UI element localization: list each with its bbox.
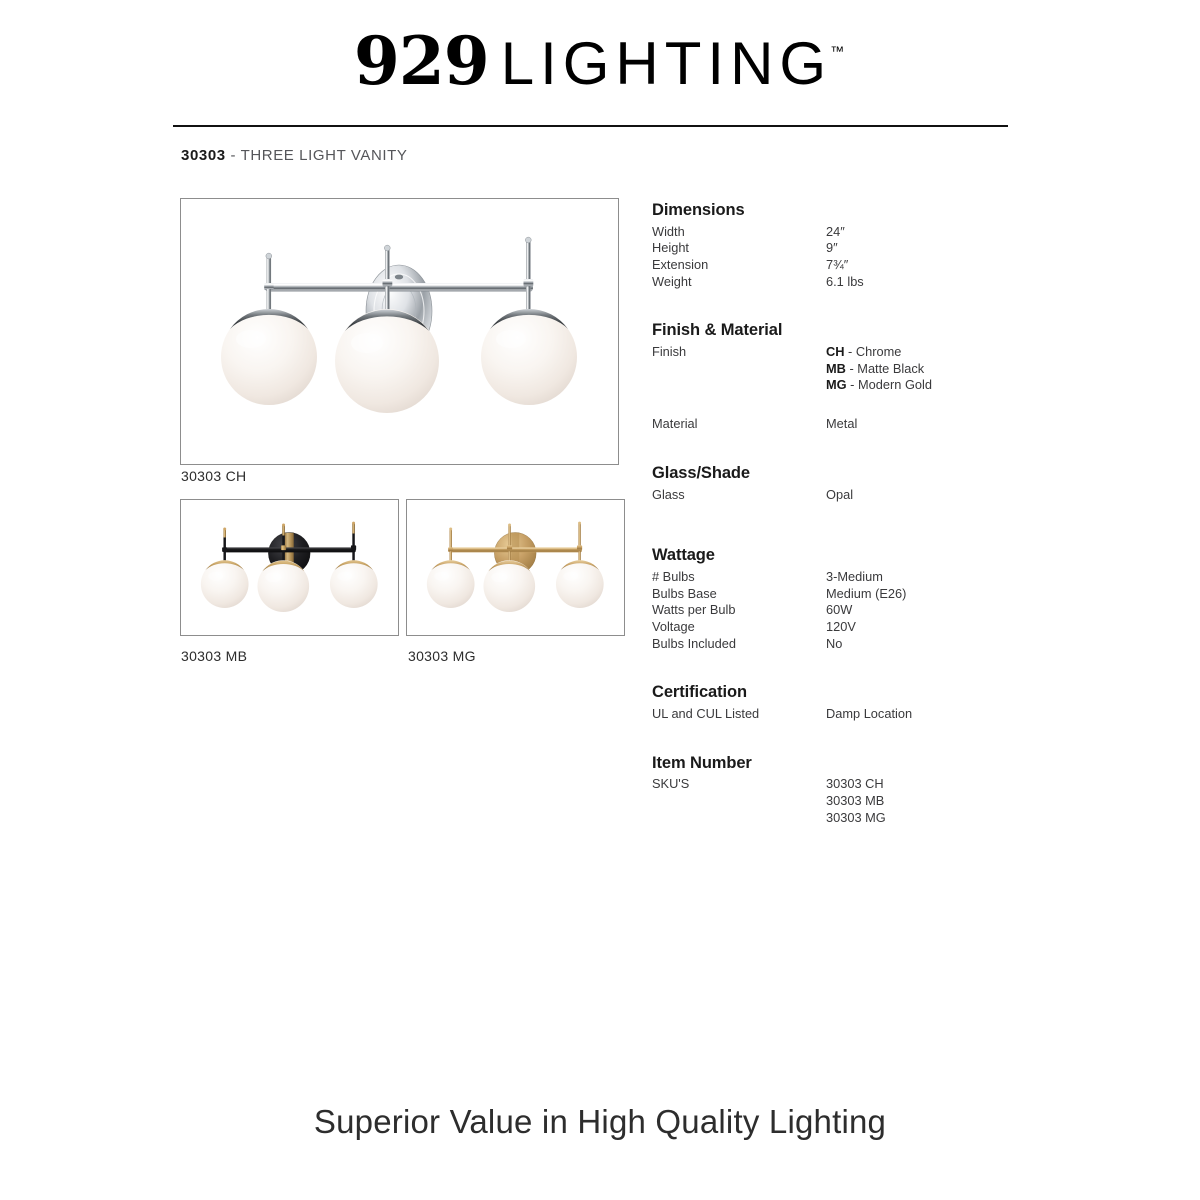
spec-label-skus: SKU'S: [652, 776, 826, 793]
finish-name-mg: - Modern Gold: [847, 377, 932, 392]
spec-label-width: Width: [652, 224, 826, 241]
page-title: 30303 - THREE LIGHT VANITY: [181, 147, 408, 164]
spacer: [652, 652, 1052, 682]
spec-value-finish-mg: MG - Modern Gold: [826, 377, 932, 394]
spec-label-glass: Glass: [652, 487, 826, 504]
fixture-illustration-modern-gold: [407, 500, 624, 635]
spec-row-extension: Extension7¾″: [652, 257, 1052, 274]
spec-label-num-bulbs: # Bulbs: [652, 569, 826, 586]
spec-value-glass: Opal: [826, 487, 853, 504]
spacer: [652, 723, 1052, 753]
spec-row-num-bulbs: # Bulbs3-Medium: [652, 569, 1052, 586]
spec-row-ul-cul: UL and CUL ListedDamp Location: [652, 706, 1052, 723]
product-image-mg: [406, 499, 625, 636]
spec-heading-wattage: Wattage: [652, 545, 1052, 566]
product-image-mb: [180, 499, 399, 636]
spec-heading-item-number: Item Number: [652, 753, 1052, 774]
product-image-ch: [180, 198, 619, 465]
spec-row-watts-per-bulb: Watts per Bulb60W: [652, 602, 1052, 619]
spec-value-weight: 6.1 lbs: [826, 274, 864, 291]
finish-name-mb: - Matte Black: [846, 361, 924, 376]
spec-row-voltage: Voltage120V: [652, 619, 1052, 636]
spec-row-finish-ch: FinishCH - Chrome: [652, 344, 1052, 361]
spec-value-finish-mb: MB - Matte Black: [826, 361, 924, 378]
spec-row-height: Height9″: [652, 240, 1052, 257]
spec-value-bulbs-included: No: [826, 636, 842, 653]
finish-code-mg: MG: [826, 377, 847, 392]
brand-logo: 929LIGHTING™: [0, 22, 1200, 100]
fixture-illustration-matte-black: [181, 500, 398, 635]
page-title-sku: 30303: [181, 147, 226, 164]
spec-value-height: 9″: [826, 240, 838, 257]
spec-value-material: Metal: [826, 416, 857, 433]
logo-wordmark-number: 929: [354, 22, 489, 100]
spacer: [652, 533, 1052, 545]
logo-wordmark-text: LIGHTING: [501, 30, 832, 97]
spec-label-extension: Extension: [652, 257, 826, 274]
spacer: [652, 394, 1052, 416]
spec-row-glass: GlassOpal: [652, 487, 1052, 504]
spec-section-wattage: Wattage # Bulbs3-Medium Bulbs BaseMedium…: [652, 545, 1052, 652]
spec-value-ul-cul: Damp Location: [826, 706, 912, 723]
spec-section-certification: Certification UL and CUL ListedDamp Loca…: [652, 682, 1052, 722]
finish-name-ch: - Chrome: [844, 344, 901, 359]
spec-row-sku-1: SKU'S30303 CH: [652, 776, 1052, 793]
spec-section-item-number: Item Number SKU'S30303 CH 30303 MB 30303…: [652, 753, 1052, 827]
spec-value-sku-mg: 30303 MG: [826, 810, 886, 827]
spec-section-dimensions: Dimensions Width24″ Height9″ Extension7¾…: [652, 200, 1052, 290]
product-caption-mg: 30303 MG: [408, 648, 476, 664]
spec-label-watts-per-bulb: Watts per Bulb: [652, 602, 826, 619]
spacer: [652, 433, 1052, 463]
finish-code-mb: MB: [826, 361, 846, 376]
header-divider: [173, 125, 1008, 127]
fixture-illustration-chrome: [181, 199, 618, 464]
spec-label-finish: Finish: [652, 344, 826, 361]
spec-label-weight: Weight: [652, 274, 826, 291]
spec-value-sku-mb: 30303 MB: [826, 793, 884, 810]
spec-heading-finish-material: Finish & Material: [652, 320, 1052, 341]
spec-label-bulbs-base: Bulbs Base: [652, 586, 826, 603]
spec-value-num-bulbs: 3-Medium: [826, 569, 883, 586]
spec-row-finish-mg: MG - Modern Gold: [652, 377, 1052, 394]
spec-label-material: Material: [652, 416, 826, 433]
spec-label-ul-cul: UL and CUL Listed: [652, 706, 826, 723]
spec-value-voltage: 120V: [826, 619, 856, 636]
spec-row-width: Width24″: [652, 224, 1052, 241]
spec-label-height: Height: [652, 240, 826, 257]
spec-heading-certification: Certification: [652, 682, 1052, 703]
spec-value-watts-per-bulb: 60W: [826, 602, 852, 619]
product-caption-ch: 30303 CH: [181, 468, 246, 484]
spec-label-voltage: Voltage: [652, 619, 826, 636]
trademark-symbol: ™: [830, 43, 844, 59]
spec-value-extension: 7¾″: [826, 257, 848, 274]
spec-row-weight: Weight6.1 lbs: [652, 274, 1052, 291]
page-title-name: - THREE LIGHT VANITY: [226, 147, 408, 164]
finish-code-ch: CH: [826, 344, 844, 359]
specifications-panel: Dimensions Width24″ Height9″ Extension7¾…: [652, 200, 1052, 826]
footer-tagline: Superior Value in High Quality Lighting: [0, 1103, 1200, 1141]
spec-section-finish-material: Finish & Material FinishCH - Chrome MB -…: [652, 320, 1052, 432]
spec-section-glass-shade: Glass/Shade GlassOpal: [652, 463, 1052, 503]
spec-row-material: MaterialMetal: [652, 416, 1052, 433]
spec-row-sku-2: 30303 MB: [652, 793, 1052, 810]
spec-heading-dimensions: Dimensions: [652, 200, 1052, 221]
spec-row-finish-mb: MB - Matte Black: [652, 361, 1052, 378]
spec-heading-glass-shade: Glass/Shade: [652, 463, 1052, 484]
spec-row-bulbs-base: Bulbs BaseMedium (E26): [652, 586, 1052, 603]
spec-value-finish-ch: CH - Chrome: [826, 344, 901, 361]
product-caption-mb: 30303 MB: [181, 648, 247, 664]
spacer: [652, 290, 1052, 320]
spacer: [652, 503, 1052, 533]
spec-value-width: 24″: [826, 224, 845, 241]
spec-value-sku-ch: 30303 CH: [826, 776, 884, 793]
spec-value-bulbs-base: Medium (E26): [826, 586, 906, 603]
spec-row-sku-3: 30303 MG: [652, 810, 1052, 827]
spec-row-bulbs-included: Bulbs IncludedNo: [652, 636, 1052, 653]
spec-label-bulbs-included: Bulbs Included: [652, 636, 826, 653]
